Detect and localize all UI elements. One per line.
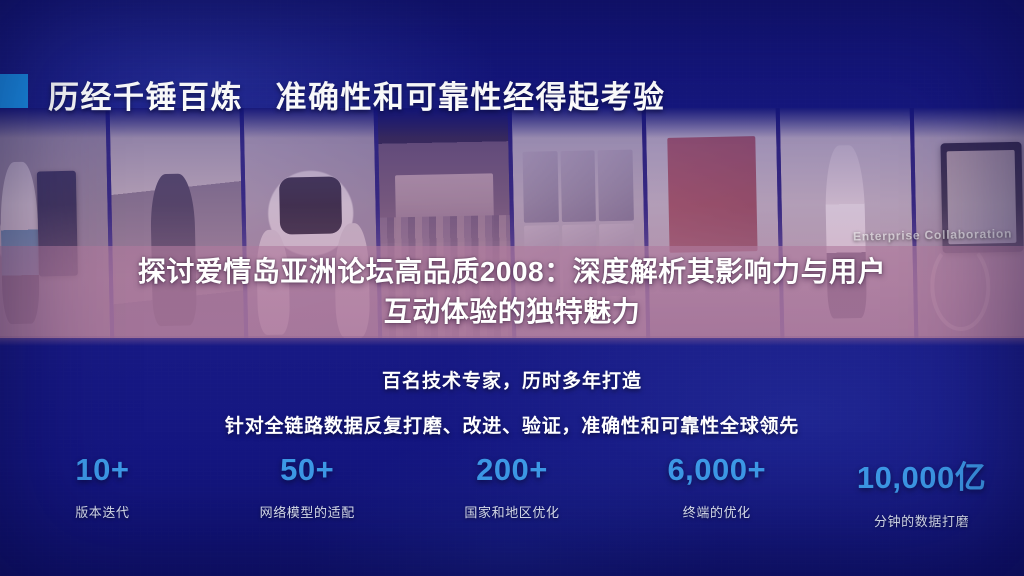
stat-label: 分钟的数据打磨	[819, 511, 1024, 530]
stat-item-data-minutes: 10,000亿 分钟的数据打磨	[819, 452, 1024, 530]
stat-number: 200+	[410, 452, 615, 488]
tagline-line2: 针对全链路数据反复打磨、改进、验证，准确性和可靠性全球领先	[0, 411, 1024, 438]
promo-banner: Gaming Classroom	[0, 0, 1024, 576]
stat-label: 终端的优化	[614, 502, 819, 521]
header-bar: 历经千锤百炼 准确性和可靠性经得起考验	[0, 30, 1024, 98]
stat-number: 50+	[205, 452, 410, 488]
accent-square-icon	[0, 74, 28, 108]
stat-label: 网络模型的适配	[205, 502, 410, 521]
stat-item-countries-regions: 200+ 国家和地区优化	[410, 452, 615, 521]
page-title-line1: 探讨爱情岛亚洲论坛高品质2008：深度解析其影响力与用户	[40, 252, 984, 292]
stat-item-version-iterations: 10+ 版本迭代	[0, 452, 205, 521]
stat-label: 版本迭代	[0, 502, 205, 521]
stat-item-terminals: 6,000+ 终端的优化	[614, 452, 819, 521]
page-title-line2: 互动体验的独特魅力	[40, 292, 984, 332]
header-title: 历经千锤百炼 准确性和可靠性经得起考验	[48, 72, 666, 117]
stat-number: 10,000亿	[819, 452, 1024, 497]
tagline-block: 百名技术专家，历时多年打造 针对全链路数据反复打磨、改进、验证，准确性和可靠性全…	[0, 366, 1024, 438]
stat-label: 国家和地区优化	[410, 502, 615, 521]
stat-item-network-models: 50+ 网络模型的适配	[205, 452, 410, 521]
tagline-line1: 百名技术专家，历时多年打造	[0, 366, 1024, 393]
stat-number: 10+	[0, 452, 205, 488]
band-bottom-edge	[0, 336, 1024, 346]
stat-number: 6,000+	[614, 452, 819, 488]
page-title: 探讨爱情岛亚洲论坛高品质2008：深度解析其影响力与用户 互动体验的独特魅力	[40, 252, 984, 332]
stats-row: 10+ 版本迭代 50+ 网络模型的适配 200+ 国家和地区优化 6,000+…	[0, 452, 1024, 548]
